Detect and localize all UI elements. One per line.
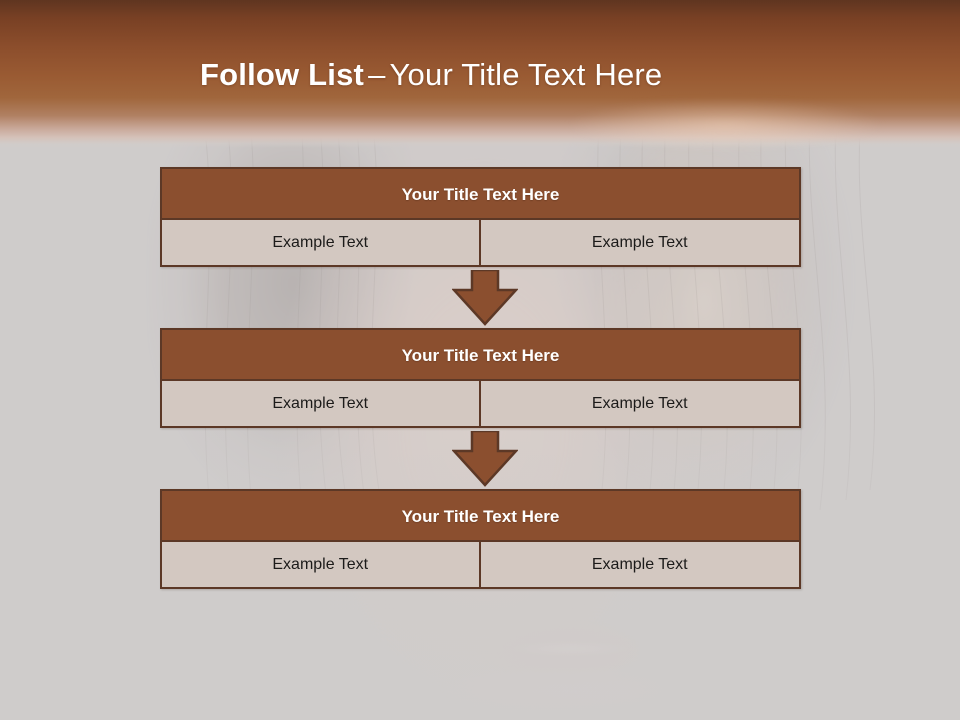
flow-block-1-cell-right[interactable]: Example Text [481,220,800,265]
presentation-slide: Follow List–Your Title Text Here Your Ti… [0,0,960,720]
flow-block-1-cell-left[interactable]: Example Text [162,220,481,265]
flow-block-1[interactable]: Your Title Text Here Example Text Exampl… [160,167,801,267]
flow-block-1-header: Your Title Text Here [162,169,799,220]
flow-block-2-cell-right[interactable]: Example Text [481,381,800,426]
flow-block-2-cell-left[interactable]: Example Text [162,381,481,426]
flow-block-2-cells: Example Text Example Text [162,381,799,426]
flow-block-3-cell-left[interactable]: Example Text [162,542,481,587]
flow-block-3-cell-right[interactable]: Example Text [481,542,800,587]
flow-block-3[interactable]: Your Title Text Here Example Text Exampl… [160,489,801,589]
flow-block-3-header: Your Title Text Here [162,491,799,542]
flow-block-3-cells: Example Text Example Text [162,542,799,587]
flow-block-2[interactable]: Your Title Text Here Example Text Exampl… [160,328,801,428]
down-arrow-icon [452,270,518,326]
page-title-strong: Follow List [200,57,364,92]
page-title: Follow List–Your Title Text Here [200,53,840,97]
page-title-rest: Your Title Text Here [390,57,663,92]
banner-glow [560,96,890,154]
down-arrow-icon [452,431,518,487]
page-title-dash: – [364,57,389,92]
flow-block-1-cells: Example Text Example Text [162,220,799,265]
flow-block-2-header: Your Title Text Here [162,330,799,381]
